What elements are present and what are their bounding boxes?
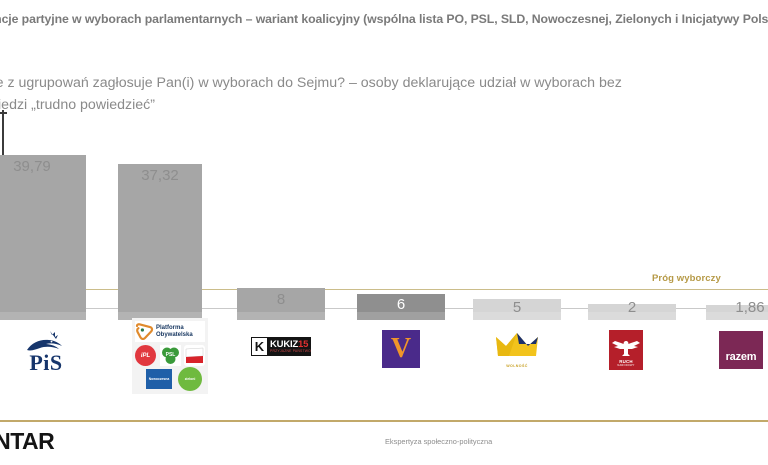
footer-note: Ekspertyza społeczno-polityczna xyxy=(385,437,492,446)
y-axis-tick xyxy=(0,112,7,114)
po-shield-icon xyxy=(135,323,154,340)
brand-logo: ANTAR xyxy=(0,428,54,455)
coalition-cell-zieloni: zieloni xyxy=(178,367,202,391)
bar-value-label: 2 xyxy=(588,299,676,316)
ruch-eagle-icon xyxy=(611,338,641,358)
bar-base-shadow xyxy=(0,312,86,320)
party-logo-pis[interactable]: PiS xyxy=(16,330,76,376)
party-logo-coalition[interactable]: Platforma Obywatelska iPL PSL xyxy=(132,318,208,394)
ruch-logo-subtext: NARODOWY xyxy=(617,364,634,367)
kukiz-tagline: PRZYJAZNE PAŃSTWO xyxy=(270,349,311,353)
bar-value-label: 39,79 xyxy=(0,158,86,175)
bar-value-label: 8 xyxy=(237,291,325,308)
po-logo-text: Platforma Obywatelska xyxy=(156,325,193,338)
bar-chart: Próg wyborczy 39,7937,3286521,86 xyxy=(0,110,768,310)
subtitle-line-1: które z ugrupowań zagłosuje Pan(i) w wyb… xyxy=(0,72,762,94)
wolnosc-logo-text: WOLNOŚĆ xyxy=(495,364,539,368)
party-logo-wiosna[interactable]: V xyxy=(382,330,420,368)
footer-divider xyxy=(0,420,768,422)
bar-value-label: 1,86 xyxy=(706,299,768,316)
slide-root: ferencje partyjne w wyborach parlamentar… xyxy=(0,0,768,465)
page-title: ferencje partyjne w wyborach parlamentar… xyxy=(0,12,768,26)
bar-base-shadow xyxy=(237,312,325,320)
kukiz-number: 15 xyxy=(298,339,308,350)
bar-value-label: 5 xyxy=(473,299,561,316)
razem-logo-text: razem xyxy=(726,351,757,363)
party-logo-wolnosc[interactable]: WOLNOŚĆ xyxy=(495,332,539,368)
wiosna-v-mark: V xyxy=(391,336,411,362)
kukiz-k-mark: K xyxy=(251,337,268,356)
wolnosc-crown-icon xyxy=(495,332,539,360)
kukiz-word: KUKIZ xyxy=(270,339,298,350)
threshold-label: Próg wyborczy xyxy=(652,273,721,284)
bar-value-label: 37,32 xyxy=(118,167,202,184)
bar-1[interactable] xyxy=(0,155,86,312)
bar-value-label: 6 xyxy=(357,296,445,313)
svg-text:PSL: PSL xyxy=(166,352,176,358)
party-logo-kukiz[interactable]: K KUKIZ15 PRZYJAZNE PAŃSTWO xyxy=(251,337,311,356)
kukiz-wordmark: KUKIZ15 PRZYJAZNE PAŃSTWO xyxy=(268,337,311,356)
pis-logo-text: PiS xyxy=(16,350,76,376)
party-logo-ruch-narodowy[interactable]: RUCH NARODOWY xyxy=(609,330,643,370)
threshold-line xyxy=(0,289,768,290)
psl-clover-icon: PSL xyxy=(160,345,181,366)
party-logo-razem[interactable]: razem xyxy=(719,331,763,369)
bar-base-shadow xyxy=(357,312,445,320)
coalition-cell-nowoczesna: Nowoczesna xyxy=(146,369,172,389)
sld-flag-icon xyxy=(184,345,205,366)
coalition-cell-ipl: iPL xyxy=(135,345,156,366)
coalition-cell-sld xyxy=(184,345,205,366)
coalition-po-logo: Platforma Obywatelska xyxy=(135,321,205,342)
coalition-cell-psl: PSL xyxy=(160,345,181,366)
bar-2[interactable] xyxy=(118,164,202,312)
